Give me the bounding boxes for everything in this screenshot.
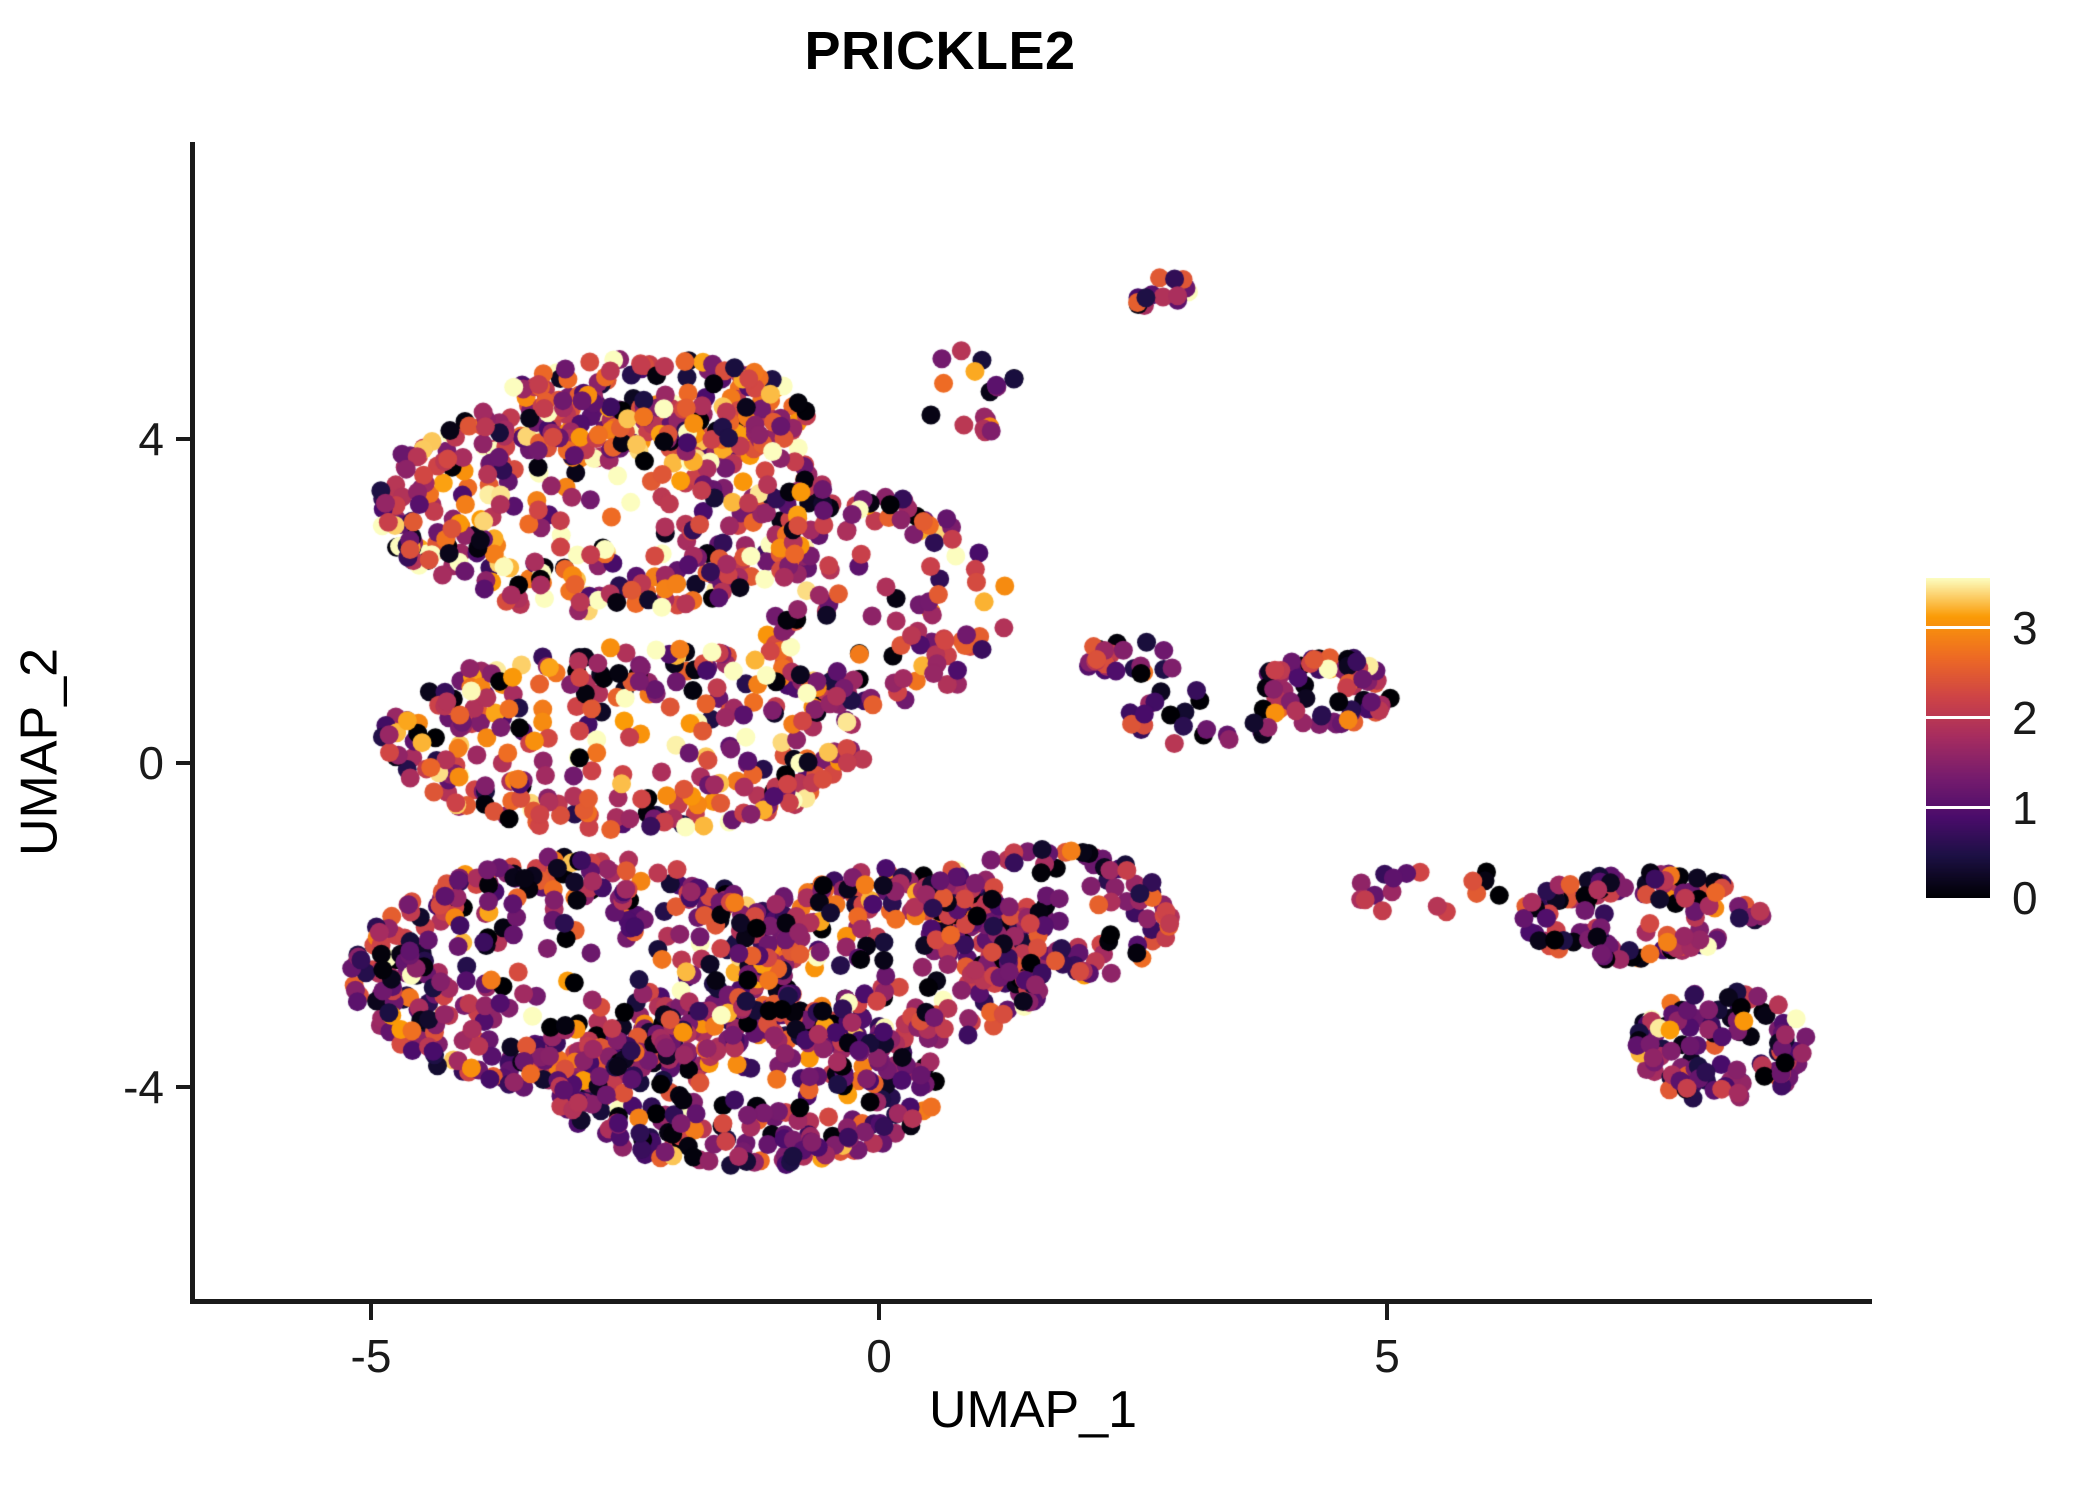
x-tick-mark — [369, 1303, 373, 1320]
colorbar-tick-mark — [1926, 626, 1990, 629]
colorbar-tick-label: 3 — [2012, 601, 2038, 655]
y-tick-mark — [176, 1085, 193, 1089]
scatter-points-layer — [194, 142, 1872, 1301]
y-axis-title: UMAP_2 — [10, 173, 70, 1332]
x-tick-mark — [877, 1303, 881, 1320]
colorbar-tick-label: 2 — [2012, 691, 2038, 745]
x-axis-title: UMAP_1 — [194, 1380, 1872, 1440]
plot-panel — [194, 142, 1872, 1301]
x-tick-label: 5 — [1374, 1329, 1400, 1383]
x-axis-line — [190, 1299, 1872, 1304]
umap-feature-plot: PRICKLE2 -404 -505 UMAP_1 UMAP_2 0123 — [0, 0, 2100, 1500]
colorbar-tick-mark — [1926, 716, 1990, 719]
y-tick-mark — [176, 437, 193, 441]
colorbar-legend: 0123 — [1926, 578, 2086, 900]
page-title: PRICKLE2 — [0, 20, 1880, 82]
y-axis-line — [190, 142, 195, 1304]
x-tick-label: 0 — [866, 1329, 892, 1383]
colorbar-tick-mark — [1926, 806, 1990, 809]
colorbar-tick-label: 1 — [2012, 781, 2038, 835]
x-tick-mark — [1385, 1303, 1389, 1320]
colorbar-tick-label: 0 — [2012, 871, 2038, 925]
x-tick-label: -5 — [351, 1329, 392, 1383]
y-tick-mark — [176, 761, 193, 765]
